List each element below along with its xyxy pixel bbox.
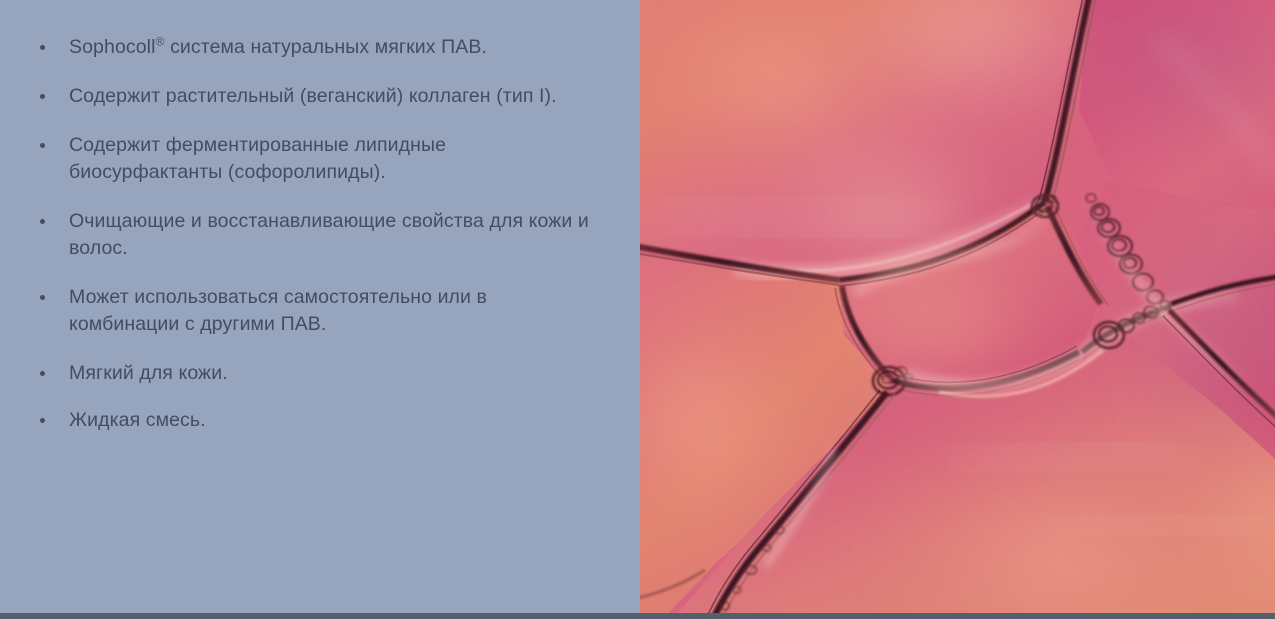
bullet-item-label: Содержит ферментированные липидные биосу… [69, 132, 600, 186]
pink-soap-bubbles-macro-photo [639, 0, 1275, 613]
list-item: Содержит растительный (веганский) коллаг… [0, 83, 600, 110]
list-item: Sophocoll® система натуральных мягких ПА… [0, 34, 600, 61]
registered-trademark-icon: ® [156, 35, 165, 49]
list-item: Жидкая смесь. [0, 407, 600, 434]
bullet-item-label: Sophocoll® система натуральных мягких ПА… [69, 34, 600, 61]
bullet-dot-icon [40, 219, 45, 224]
bullet-item-label: Жидкая смесь. [69, 407, 600, 434]
bullet-dot-icon [40, 295, 45, 300]
product-name: Sophocoll [69, 36, 156, 58]
bullet-item-label: Может использоваться самостоятельно или … [69, 284, 600, 338]
bullet-item-label: Содержит растительный (веганский) коллаг… [69, 83, 600, 110]
bullet-dot-icon [40, 94, 45, 99]
bullet-item-remainder: система натуральных мягких ПАВ. [165, 36, 487, 58]
slide-bottom-border [0, 613, 1275, 619]
slide: Sophocoll® система натуральных мягких ПА… [0, 0, 1275, 619]
bubble-illustration [639, 0, 1275, 613]
list-item: Содержит ферментированные липидные биосу… [0, 132, 600, 186]
bullet-dot-icon [40, 371, 45, 376]
bullet-text-panel: Sophocoll® система натуральных мягких ПА… [0, 0, 640, 613]
list-item: Очищающие и восстанавливающие свойства д… [0, 208, 600, 262]
list-item: Мягкий для кожи. [0, 360, 600, 387]
bullet-dot-icon [40, 45, 45, 50]
bullet-item-label: Очищающие и восстанавливающие свойства д… [69, 208, 600, 262]
bullet-dot-icon [40, 418, 45, 423]
bullet-dot-icon [40, 143, 45, 148]
list-item: Может использоваться самостоятельно или … [0, 284, 600, 338]
bullet-item-label: Мягкий для кожи. [69, 360, 600, 387]
feature-bullet-list: Sophocoll® система натуральных мягких ПА… [0, 34, 600, 454]
